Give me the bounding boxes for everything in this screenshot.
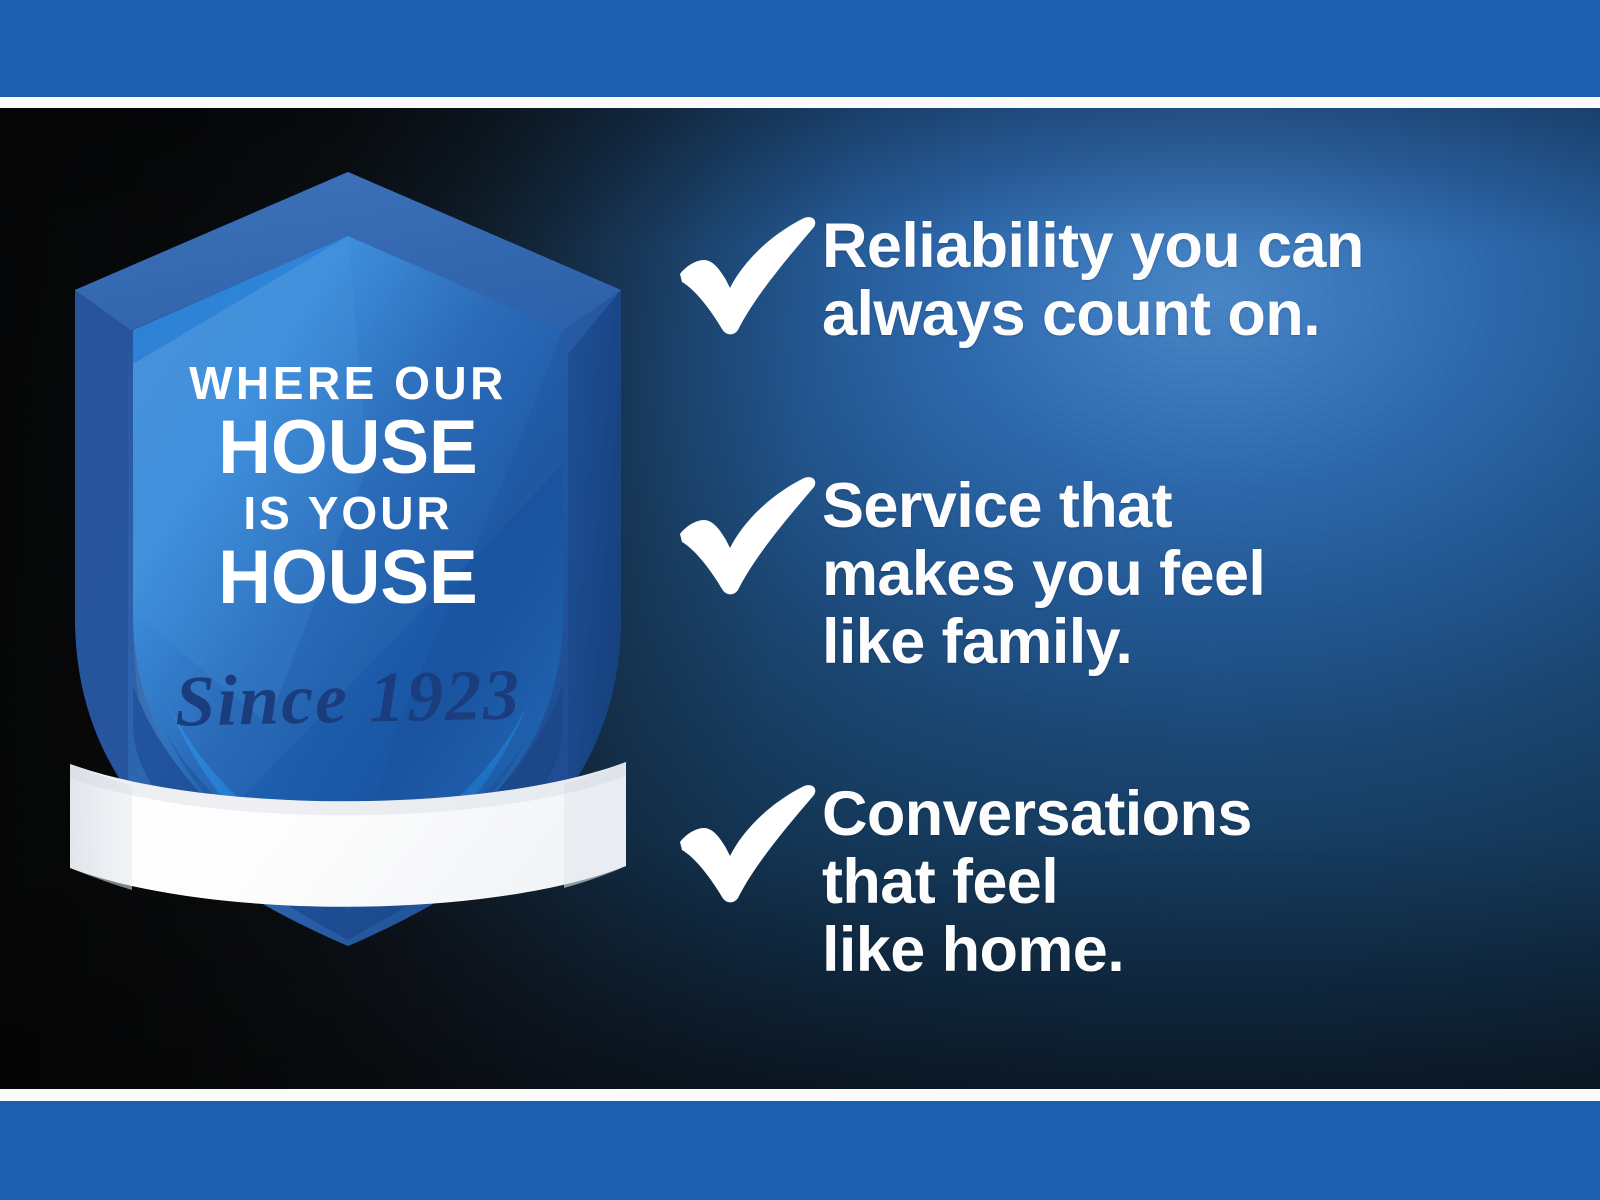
check-icon [672,476,822,596]
bottom-white-divider [0,1089,1600,1101]
top-brand-bar [0,0,1600,97]
list-item: Conversations that feel like home. [672,780,1252,984]
benefits-list: Reliability you can always count on. Ser… [672,108,1492,1089]
list-item-label: Conversations that feel like home. [822,780,1252,984]
check-icon [672,216,822,336]
list-item: Service that makes you feel like family. [672,472,1265,676]
list-item-label: Reliability you can always count on. [822,212,1364,348]
bottom-brand-bar [0,1101,1600,1200]
shield-icon [68,164,628,954]
list-item: Reliability you can always count on. [672,212,1364,348]
top-white-divider [0,97,1600,108]
check-icon [672,784,822,904]
promo-graphic: Where Our House Is Your House Since 1923… [0,0,1600,1200]
list-item-label: Service that makes you feel like family. [822,472,1265,676]
shield-badge: Where Our House Is Your House Since 1923 [68,164,628,954]
